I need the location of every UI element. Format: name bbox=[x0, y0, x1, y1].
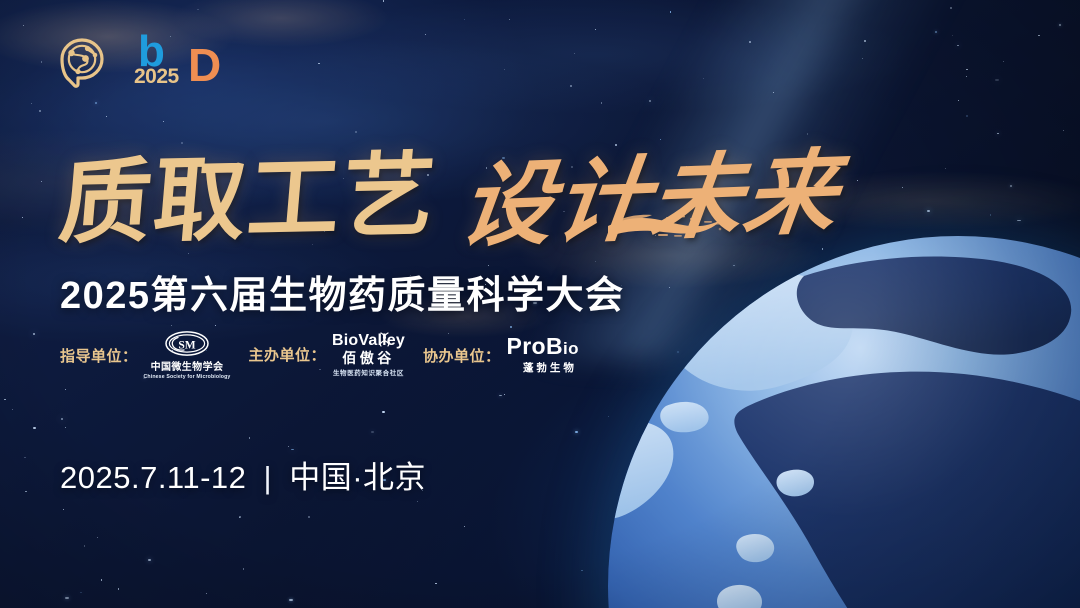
star bbox=[575, 431, 578, 433]
star bbox=[1002, 547, 1003, 548]
headline-slogan: 质取工艺 设计未来 bbox=[60, 140, 760, 258]
probio-pro: Pro bbox=[506, 333, 546, 359]
star bbox=[1009, 492, 1010, 493]
star bbox=[957, 395, 958, 396]
star bbox=[197, 9, 198, 10]
slogan-phrase-1: 质取工艺 bbox=[56, 149, 441, 249]
star bbox=[1059, 24, 1061, 25]
logo-letter-d: D bbox=[188, 42, 221, 88]
star bbox=[31, 103, 32, 104]
star bbox=[291, 449, 294, 451]
logo-lettering: b 2025 D bbox=[116, 34, 236, 92]
event-logo: b 2025 D bbox=[56, 30, 236, 92]
event-subtitle: 2025第六届生物药质量科学大会 bbox=[60, 264, 625, 319]
star bbox=[425, 34, 426, 35]
sponsor-host: 主办单位： BioValley 佰傲谷 生物医药知识聚合社区 bbox=[248, 333, 404, 377]
star bbox=[938, 591, 939, 592]
star bbox=[1070, 591, 1073, 593]
star bbox=[693, 474, 695, 476]
sponsor-label-guidance: 指导单位： bbox=[60, 345, 138, 366]
globe-speech-bubble-icon bbox=[56, 34, 114, 92]
probio-name-cn: 蓬勃生物 bbox=[523, 360, 579, 375]
star bbox=[1010, 185, 1012, 187]
star bbox=[106, 116, 107, 117]
star bbox=[65, 597, 68, 599]
biovalley-name-cn: 佰傲谷 bbox=[342, 350, 395, 366]
event-date: 2025.7.11-12 bbox=[60, 460, 246, 495]
star bbox=[875, 470, 876, 471]
star bbox=[872, 364, 874, 366]
csm-logo: SM 中国微生物学会 Chinese Society for Microbiol… bbox=[144, 330, 231, 380]
star bbox=[118, 588, 119, 589]
star bbox=[61, 418, 63, 420]
star bbox=[39, 110, 41, 112]
star bbox=[33, 427, 35, 429]
star bbox=[383, 0, 384, 1]
star bbox=[243, 568, 244, 569]
star bbox=[504, 394, 505, 395]
star bbox=[888, 471, 889, 472]
star bbox=[63, 509, 64, 510]
dna-icon bbox=[378, 332, 391, 347]
star bbox=[464, 19, 465, 20]
star bbox=[41, 181, 42, 182]
star bbox=[581, 570, 582, 571]
star bbox=[1063, 349, 1064, 350]
star bbox=[964, 488, 965, 489]
star bbox=[1056, 355, 1057, 356]
star bbox=[960, 397, 963, 399]
star bbox=[25, 491, 26, 492]
star bbox=[744, 529, 745, 530]
star bbox=[1004, 554, 1005, 555]
star bbox=[84, 545, 85, 546]
star bbox=[33, 333, 35, 335]
star bbox=[22, 217, 23, 218]
star bbox=[1063, 130, 1064, 131]
star bbox=[685, 571, 686, 572]
star bbox=[893, 505, 894, 506]
star bbox=[665, 584, 666, 585]
star bbox=[1017, 551, 1018, 552]
star bbox=[1022, 445, 1025, 447]
star bbox=[876, 397, 877, 398]
star bbox=[95, 102, 97, 104]
star bbox=[1003, 61, 1004, 62]
sponsor-coorganizer: 协办单位： ProBio 蓬勃生物 bbox=[423, 335, 579, 375]
star bbox=[65, 389, 66, 390]
star bbox=[499, 395, 502, 397]
star bbox=[101, 579, 102, 580]
date-location-line: 2025.7.11-12 | 中国·北京 bbox=[60, 452, 426, 497]
star bbox=[435, 583, 436, 584]
star bbox=[249, 437, 250, 438]
conference-poster: b 2025 D 质取工艺 设计未来 2025第六届生物药质量 bbox=[0, 0, 1080, 608]
csm-monogram-icon: SM bbox=[164, 330, 210, 357]
sponsor-guidance: 指导单位： SM 中国微生物学会 Chinese Society for Mic… bbox=[60, 330, 230, 380]
star bbox=[41, 61, 42, 62]
svg-text:SM: SM bbox=[178, 339, 195, 351]
star bbox=[65, 427, 66, 428]
star bbox=[1009, 403, 1010, 404]
star bbox=[990, 550, 991, 551]
star bbox=[23, 25, 24, 26]
star bbox=[239, 516, 241, 518]
star bbox=[620, 534, 622, 536]
star bbox=[308, 516, 310, 518]
biovalley-wordmark: BioValley bbox=[332, 332, 405, 349]
logo-year: 2025 bbox=[134, 66, 179, 87]
star bbox=[12, 409, 13, 410]
probio-logo: ProBio 蓬勃生物 bbox=[506, 335, 578, 375]
star bbox=[239, 517, 240, 518]
star bbox=[708, 563, 709, 564]
star bbox=[608, 416, 609, 417]
star bbox=[1051, 314, 1052, 315]
star bbox=[746, 552, 747, 553]
star bbox=[787, 391, 788, 392]
star bbox=[699, 475, 701, 477]
csm-name-cn: 中国微生物学会 bbox=[151, 358, 224, 373]
slogan-phrase-2: 设计未来 bbox=[455, 146, 844, 252]
biovalley-logo: BioValley 佰傲谷 生物医药知识聚合社区 bbox=[332, 333, 405, 377]
dateline-separator: | bbox=[256, 460, 281, 495]
star bbox=[289, 599, 292, 601]
star bbox=[318, 63, 319, 64]
sponsor-label-coorganizer: 协办单位： bbox=[423, 345, 501, 366]
star bbox=[823, 531, 824, 532]
star bbox=[1073, 372, 1075, 374]
star bbox=[206, 593, 207, 594]
biovalley-name-en: BioValley bbox=[332, 333, 405, 350]
star bbox=[950, 513, 952, 515]
star bbox=[765, 423, 766, 424]
star bbox=[694, 432, 695, 433]
csm-name-en: Chinese Society for Microbiology bbox=[144, 374, 231, 380]
star bbox=[148, 559, 151, 561]
star bbox=[163, 121, 164, 122]
star bbox=[663, 598, 664, 599]
star bbox=[80, 592, 82, 593]
biovalley-tagline: 生物医药知识聚合社区 bbox=[333, 367, 404, 377]
star bbox=[4, 399, 5, 400]
star bbox=[382, 411, 384, 413]
star bbox=[464, 526, 465, 527]
star bbox=[288, 446, 289, 447]
star bbox=[724, 378, 725, 379]
probio-io: io bbox=[563, 339, 579, 358]
star bbox=[171, 325, 172, 326]
star bbox=[97, 537, 98, 538]
star bbox=[24, 457, 26, 458]
star bbox=[995, 548, 996, 549]
sponsor-row: 指导单位： SM 中国微生物学会 Chinese Society for Mic… bbox=[60, 330, 579, 380]
star bbox=[355, 131, 356, 132]
sponsor-label-host: 主办单位： bbox=[248, 344, 326, 365]
event-location: 中国·北京 bbox=[289, 460, 426, 495]
star bbox=[371, 431, 374, 433]
star bbox=[1017, 220, 1020, 222]
probio-b: B bbox=[546, 333, 563, 359]
star bbox=[417, 501, 418, 502]
star bbox=[215, 325, 216, 326]
star bbox=[1038, 35, 1039, 36]
probio-wordmark: ProBio bbox=[506, 335, 578, 358]
